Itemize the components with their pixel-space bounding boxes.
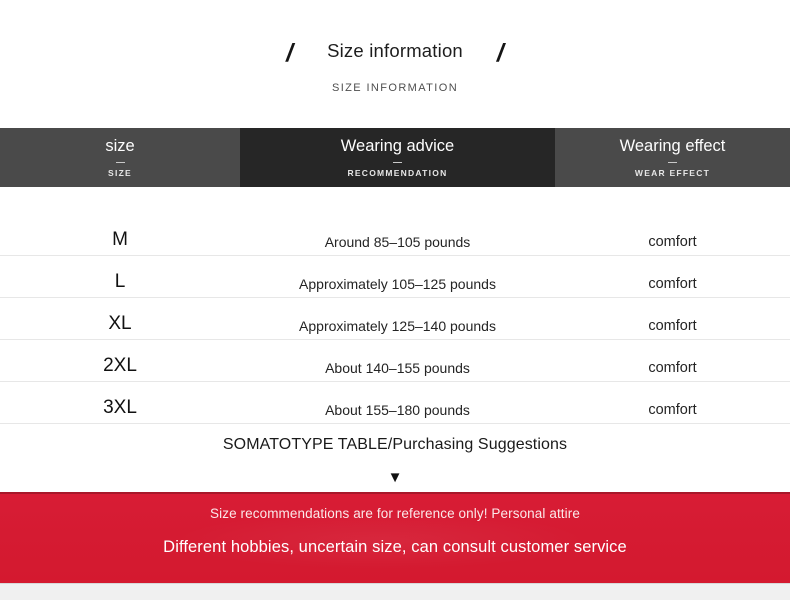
column-header-wearing-advice-sublabel: RECOMMENDATION	[348, 169, 448, 178]
wearing-advice-value: Around 85–105 pounds	[325, 235, 471, 250]
size-table-body: M Around 85–105 pounds comfort L Approxi…	[0, 187, 790, 424]
cell-wearing-advice: About 140–155 pounds	[240, 340, 555, 381]
divider-dash	[116, 162, 125, 163]
size-value: 3XL	[103, 398, 137, 418]
notice-line-secondary: Different hobbies, uncertain size, can c…	[0, 538, 790, 557]
cell-size: M	[0, 187, 240, 255]
table-header-row: size SIZE Wearing advice RECOMMENDATION …	[0, 128, 790, 187]
page-title: Size information	[327, 40, 463, 62]
column-header-size-label: size	[105, 138, 134, 155]
cell-wearing-effect: comfort	[555, 382, 790, 423]
size-value: 2XL	[103, 356, 137, 376]
column-header-size-sublabel: SIZE	[108, 169, 132, 178]
column-header-wearing-effect-label: Wearing effect	[620, 138, 726, 155]
cell-size: 2XL	[0, 340, 240, 381]
table-row: XL Approximately 125–140 pounds comfort	[0, 298, 790, 340]
wearing-effect-value: comfort	[648, 403, 696, 418]
cell-wearing-advice: Approximately 105–125 pounds	[240, 256, 555, 297]
wearing-effect-value: comfort	[648, 277, 696, 292]
wearing-effect-value: comfort	[648, 319, 696, 334]
column-header-wearing-effect-sublabel: WEAR EFFECT	[635, 169, 710, 178]
column-header-wearing-advice: Wearing advice RECOMMENDATION	[240, 128, 555, 187]
cell-wearing-advice: Approximately 125–140 pounds	[240, 298, 555, 339]
column-header-wearing-advice-label: Wearing advice	[341, 138, 454, 155]
cell-wearing-effect: comfort	[555, 187, 790, 255]
somatotype-caption: SOMATOTYPE TABLE/Purchasing Suggestions	[0, 436, 790, 454]
notice-banner: Size recommendations are for reference o…	[0, 492, 790, 583]
cell-wearing-effect: comfort	[555, 340, 790, 381]
column-header-size: size SIZE	[0, 128, 240, 187]
table-row: 2XL About 140–155 pounds comfort	[0, 340, 790, 382]
wearing-advice-value: Approximately 105–125 pounds	[299, 277, 496, 292]
size-value: L	[115, 272, 126, 292]
wearing-effect-value: comfort	[648, 361, 696, 376]
title-block: / Size information / SIZE INFORMATION	[0, 34, 790, 94]
bottom-strip	[0, 583, 790, 600]
size-value: M	[112, 230, 128, 250]
page-subtitle: SIZE INFORMATION	[0, 82, 790, 94]
size-information-page: / Size information / SIZE INFORMATION si…	[0, 0, 790, 599]
cell-wearing-advice: Around 85–105 pounds	[240, 187, 555, 255]
wearing-advice-value: Approximately 125–140 pounds	[299, 319, 496, 334]
wearing-advice-value: About 140–155 pounds	[325, 361, 470, 376]
cell-wearing-effect: comfort	[555, 256, 790, 297]
wearing-effect-value: comfort	[648, 235, 696, 250]
cell-wearing-effect: comfort	[555, 298, 790, 339]
slash-left-decoration: /	[286, 41, 293, 66]
divider-dash	[668, 162, 677, 163]
cell-wearing-advice: About 155–180 pounds	[240, 382, 555, 423]
cell-size: XL	[0, 298, 240, 339]
cell-size: 3XL	[0, 382, 240, 423]
table-row: 3XL About 155–180 pounds comfort	[0, 382, 790, 424]
slash-right-decoration: /	[497, 41, 504, 66]
chevron-down-icon: ▼	[0, 470, 790, 485]
title-row: / Size information /	[0, 34, 790, 68]
table-row: M Around 85–105 pounds comfort	[0, 187, 790, 256]
column-header-wearing-effect: Wearing effect WEAR EFFECT	[555, 128, 790, 187]
wearing-advice-value: About 155–180 pounds	[325, 403, 470, 418]
divider-dash	[393, 162, 402, 163]
notice-line-primary: Size recommendations are for reference o…	[0, 506, 790, 521]
table-row: L Approximately 105–125 pounds comfort	[0, 256, 790, 298]
size-value: XL	[108, 314, 131, 334]
cell-size: L	[0, 256, 240, 297]
